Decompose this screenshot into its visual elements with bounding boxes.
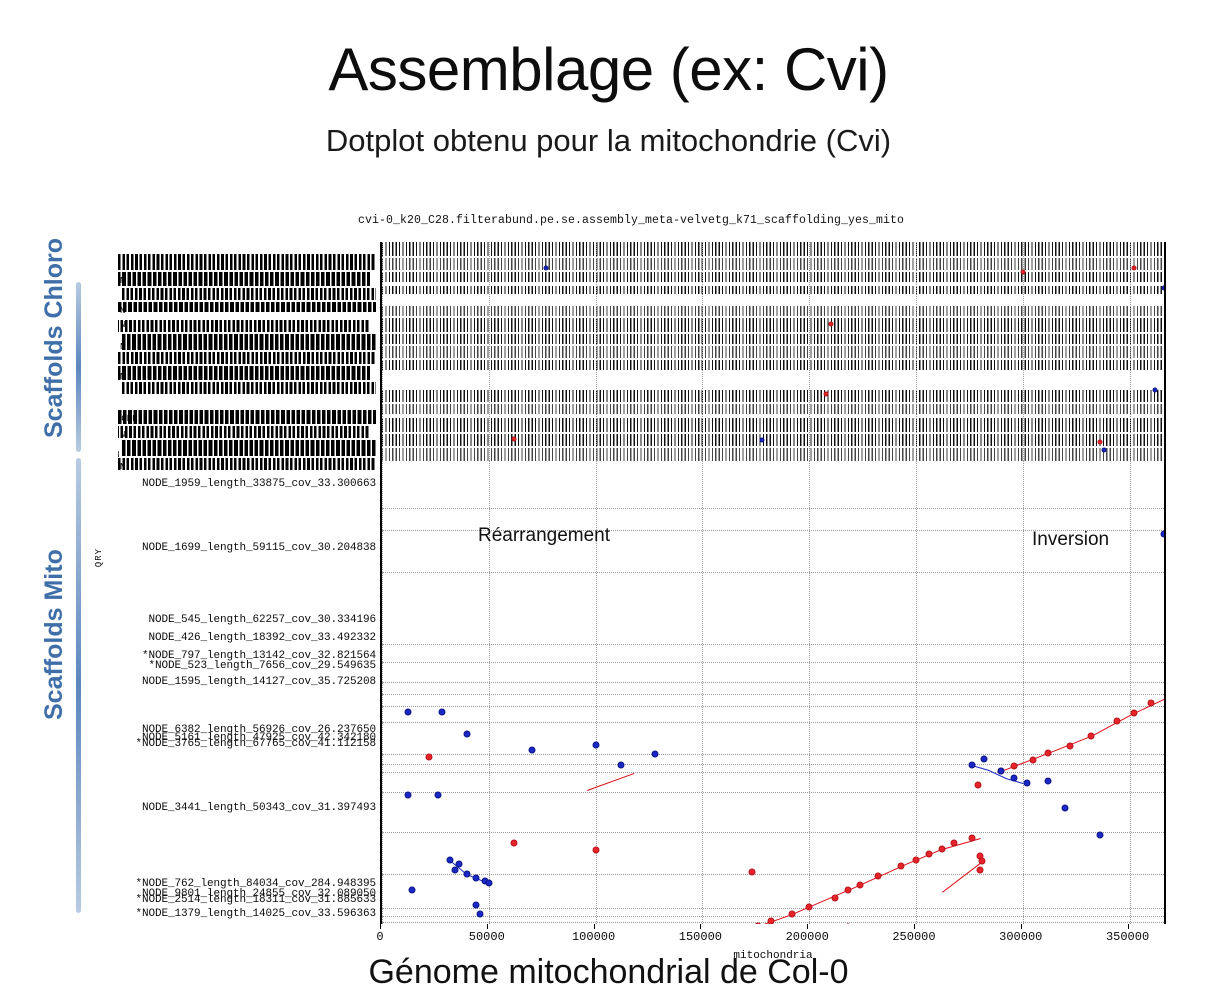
y-axis-tick-labels: NNNNNNODENNN NODE_1959_length_33875_cov_…: [96, 242, 376, 924]
data-point: [464, 731, 471, 738]
chloro-match-band: [382, 360, 1164, 370]
chloro-match-band: [382, 242, 1164, 256]
data-point: [528, 747, 535, 754]
x-axis-tick: [594, 924, 595, 929]
data-point: [968, 762, 975, 769]
grid-line-horizontal: [382, 874, 1164, 875]
alignment-segment: [1091, 713, 1134, 737]
chloro-match-band: [382, 306, 1164, 316]
chloro-label-stub: N: [120, 320, 125, 330]
chloro-label-row: [122, 440, 376, 456]
y-axis-tick-label: NODE_426_length_18392_cov_33.492332: [148, 633, 376, 644]
chloro-match-band: [382, 404, 1164, 414]
grid-line-horizontal: [382, 694, 1164, 695]
y-axis-tick-label: NODE_545_length_62257_cov_30.334196: [148, 615, 376, 626]
alignment-segment: [1001, 753, 1048, 772]
alignment-segment: [587, 773, 634, 791]
y-axis-tick-label: *NODE_523_length_7656_cov_29.549635: [148, 661, 376, 672]
x-axis-tick: [807, 924, 808, 929]
data-point: [425, 754, 432, 761]
y-axis-tick-label: *NODE_3765_length_67765_cov_41.112158: [135, 739, 376, 750]
grid-line-horizontal: [382, 792, 1164, 793]
data-point: [828, 322, 833, 327]
annotation-inversion: Inversion: [1032, 529, 1109, 551]
data-point: [898, 863, 905, 870]
grid-line-vertical: [916, 242, 917, 461]
grid-line-horizontal: [382, 644, 1164, 645]
x-axis-tick-label: 150000: [679, 930, 722, 944]
chloro-label-row: [122, 382, 376, 394]
data-point: [1161, 286, 1164, 291]
chloro-label-row: [118, 458, 376, 470]
x-axis-tick-label: 100000: [572, 930, 615, 944]
data-point: [1088, 733, 1095, 740]
chloro-label-row: [118, 302, 376, 312]
data-point: [925, 851, 932, 858]
alignment-segment: [901, 849, 942, 867]
data-point: [1130, 710, 1137, 717]
y-axis-tick-label: *NODE_1379_length_14025_cov_33.596363: [135, 909, 376, 920]
data-point: [592, 847, 599, 854]
chloro-label-row: [118, 254, 376, 270]
y-axis-tick-label: NODE_1595_length_14127_cov_35.725208: [142, 677, 376, 688]
data-point: [760, 438, 765, 443]
grid-line-horizontal: [382, 772, 1164, 773]
grid-line-horizontal: [382, 682, 1164, 683]
data-point: [844, 887, 851, 894]
dotplot-figure: cvi-0_k20_C28.filterabund.pe.se.assembly…: [96, 230, 1166, 930]
data-point: [1020, 270, 1025, 275]
data-point: [1024, 780, 1031, 787]
x-axis-tick-label: 50000: [469, 930, 505, 944]
data-point: [404, 709, 411, 716]
chloro-label-row: [118, 272, 370, 286]
grid-line-horizontal: [382, 572, 1164, 573]
grid-line-horizontal: [382, 908, 1164, 909]
data-point: [1113, 718, 1120, 725]
data-point: [472, 902, 479, 909]
data-point: [1096, 832, 1103, 839]
chloro-match-band: [382, 434, 1164, 446]
data-point: [912, 857, 919, 864]
data-point: [434, 792, 441, 799]
y-axis-tick-label: NODE_3441_length_50343_cov_31.397493: [142, 803, 376, 814]
data-point: [979, 858, 986, 865]
side-label-scaffolds-mito: Scaffolds Mito: [40, 520, 69, 720]
chloro-label-row: [122, 288, 376, 300]
grid-line-horizontal: [382, 764, 1164, 765]
grid-line-vertical: [596, 242, 597, 461]
chloro-label-stub: N: [120, 430, 125, 440]
x-axis-tick: [1128, 924, 1129, 929]
data-point: [831, 895, 838, 902]
data-point: [652, 751, 659, 758]
plot-region-chloro: [382, 242, 1164, 461]
data-point: [824, 392, 829, 397]
chloro-match-band: [382, 286, 1164, 294]
grid-line-horizontal: [382, 722, 1164, 723]
x-axis-tick-label: 250000: [892, 930, 935, 944]
x-axis-tick-label: 200000: [786, 930, 829, 944]
grid-line-horizontal: [382, 662, 1164, 663]
data-point: [1030, 757, 1037, 764]
chloro-label-row: [118, 410, 376, 424]
chloro-match-band: [382, 272, 1164, 282]
data-point: [748, 869, 755, 876]
data-point: [938, 846, 945, 853]
data-point: [1045, 750, 1052, 757]
grid-line-horizontal: [382, 706, 1164, 707]
chloro-label-row: [118, 366, 370, 380]
grid-line-vertical: [382, 242, 383, 461]
data-point: [981, 756, 988, 763]
chloro-label-stub: N: [120, 276, 125, 286]
data-point: [511, 840, 518, 847]
alignment-segment: [942, 861, 983, 893]
chloro-label-stub: N: [120, 372, 125, 382]
data-point: [464, 871, 471, 878]
chloro-label-stub: N: [120, 306, 125, 316]
slide-root: Assemblage (ex: Cvi) Dotplot obtenu pour…: [0, 0, 1217, 1000]
alignment-segment: [792, 890, 848, 915]
page-subtitle: Dotplot obtenu pour la mitochondrie (Cvi…: [0, 124, 1217, 158]
grid-line-horizontal: [382, 916, 1164, 917]
chloro-label-stub: N: [120, 342, 125, 352]
data-point: [857, 882, 864, 889]
data-point: [447, 857, 454, 864]
data-point: [1131, 266, 1136, 271]
grid-line-horizontal: [382, 508, 1164, 509]
data-point: [592, 742, 599, 749]
x-axis-tick: [380, 924, 381, 929]
plot-panel: Réarrangement Inversion: [380, 242, 1166, 924]
grid-line-vertical: [489, 242, 490, 461]
page-caption: Génome mitochondrial de Col-0: [0, 953, 1217, 992]
data-point: [1062, 805, 1069, 812]
chloro-label-row: [122, 334, 376, 350]
x-axis-tick-label: 350000: [1106, 930, 1149, 944]
grid-line-vertical: [702, 242, 703, 461]
data-point: [438, 709, 445, 716]
x-axis-tick-label: 0: [376, 930, 383, 944]
x-axis-tick: [487, 924, 488, 929]
chloro-label-stub: NODE: [118, 414, 138, 424]
chloro-label-stub: N: [120, 462, 125, 472]
x-axis-tick-label: 300000: [999, 930, 1042, 944]
data-point: [874, 873, 881, 880]
data-point: [977, 867, 984, 874]
chloro-match-band: [382, 448, 1164, 461]
chloro-match-band: [382, 318, 1164, 332]
data-point: [951, 840, 958, 847]
data-point: [404, 792, 411, 799]
data-point: [472, 875, 479, 882]
data-point: [1153, 388, 1158, 393]
data-point: [1011, 763, 1018, 770]
data-point: [974, 782, 981, 789]
chloro-match-band: [382, 334, 1164, 344]
grid-line-vertical: [1023, 242, 1024, 461]
grid-line-horizontal: [382, 832, 1164, 833]
chloro-match-band: [382, 418, 1164, 432]
annotation-rearrangement: Réarrangement: [478, 525, 610, 547]
data-point: [968, 835, 975, 842]
bracket-bar-mito: [76, 458, 81, 913]
plot-title: cvi-0_k20_C28.filterabund.pe.se.assembly…: [96, 214, 1166, 227]
y-axis-tick-label: *NODE_2514_length_18311_cov_31.885633: [135, 895, 376, 906]
data-point: [1101, 448, 1106, 453]
data-point: [806, 904, 813, 911]
chloro-label-row: [118, 320, 370, 332]
chloro-match-band: [382, 258, 1164, 270]
chloro-label-row: [118, 426, 370, 438]
data-point: [1045, 778, 1052, 785]
data-point: [1097, 440, 1102, 445]
data-point: [477, 911, 484, 918]
data-point: [789, 911, 796, 918]
y-axis-tick-label: NODE_1699_length_59115_cov_30.204838: [142, 543, 376, 554]
y-axis-tick-label: NODE_1959_length_33875_cov_33.300663: [142, 479, 376, 490]
grid-line-vertical: [809, 242, 810, 461]
chloro-label-stub: N: [118, 450, 119, 460]
x-axis-tick: [1021, 924, 1022, 929]
chloro-label-row: [118, 352, 376, 364]
data-point: [1011, 775, 1018, 782]
x-axis-tick: [700, 924, 701, 929]
x-axis-tick: [914, 924, 915, 929]
data-point: [544, 266, 549, 271]
data-point: [451, 867, 458, 874]
data-point: [618, 762, 625, 769]
side-label-scaffolds-chloro: Scaffolds Chloro: [40, 238, 69, 438]
data-point: [1066, 743, 1073, 750]
chloro-label-cluster: NNNNNNODENNN: [118, 254, 376, 473]
data-point: [998, 768, 1005, 775]
bracket-bar-chloro: [76, 282, 81, 452]
data-point: [408, 887, 415, 894]
page-title: Assemblage (ex: Cvi): [0, 38, 1217, 101]
data-point: [485, 880, 492, 887]
grid-line-vertical: [1130, 242, 1131, 461]
chloro-match-band: [382, 346, 1164, 358]
data-point: [1160, 531, 1164, 538]
chloro-match-band: [382, 390, 1164, 402]
data-point: [512, 437, 517, 442]
data-point: [1147, 700, 1154, 707]
